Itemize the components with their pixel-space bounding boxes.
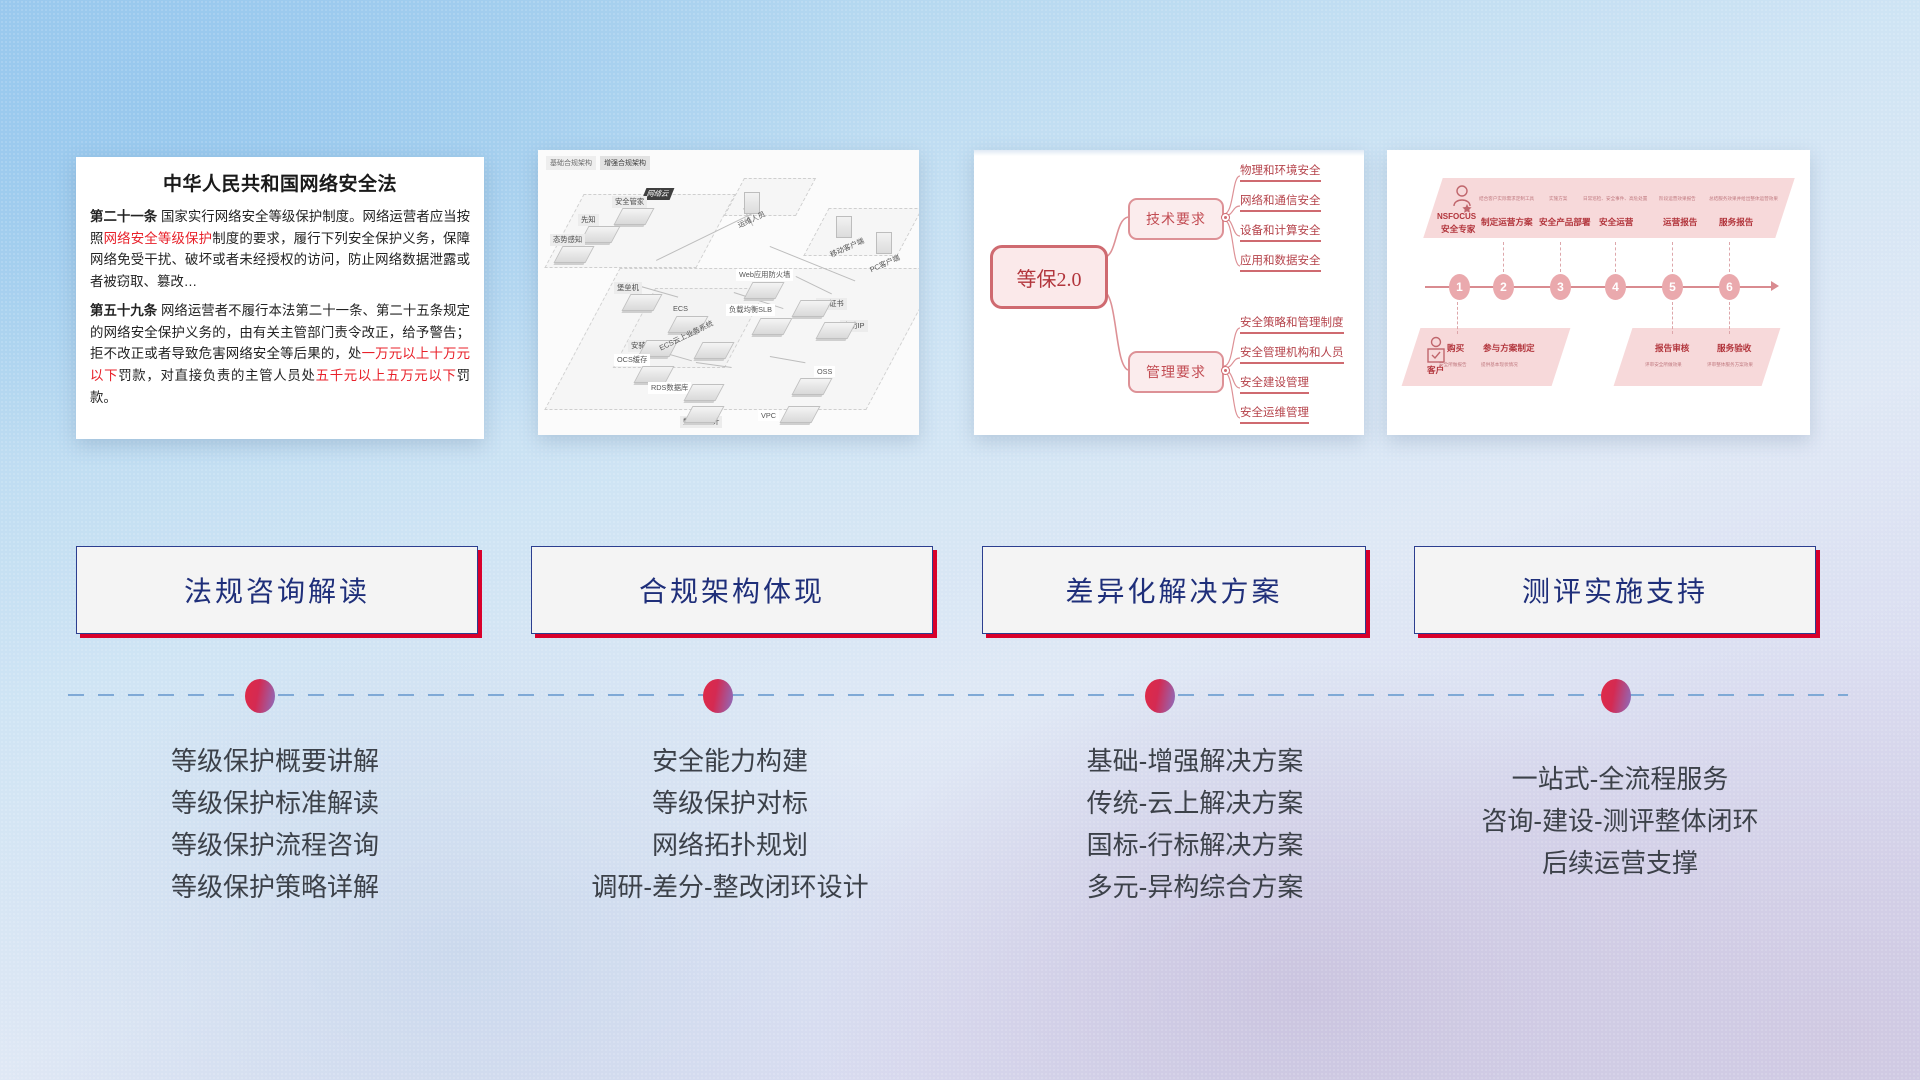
law-text-highlight: 网络安全等级保护 (104, 231, 213, 246)
architecture-tabs: 基础合规架构 增强合规架构 (546, 156, 650, 170)
node-situational-awareness: 态势感知 (558, 246, 590, 263)
customer-step-desc: 评审整体服务方案效果 (1707, 362, 1753, 368)
rail-dot-4 (1601, 679, 1631, 713)
pillar-title-assessment-support[interactable]: 测评实施支持 (1414, 546, 1816, 634)
law-paragraph: 第五十九条 网络运营者不履行本法第二十一条、第二十五条规定的网络安全保护义务的，… (90, 300, 470, 409)
timeline-step: 1 (1449, 274, 1470, 300)
expert-role-label-cn: 安全专家 (1441, 223, 1475, 235)
pillar-item: 等级保护概要讲解 (80, 740, 470, 782)
pillar-item: 国标-行标解决方案 (1000, 824, 1390, 866)
law-text-highlight: 五千元以上五万元以下 (316, 368, 457, 383)
expert-step-desc: 阶段运营效果报告 (1659, 196, 1696, 202)
pillar-item: 网络拓扑规划 (530, 824, 930, 866)
node-mobile-client-icon (836, 216, 852, 238)
timeline-rail (68, 694, 1848, 696)
node-rds-database: RDS数据库 (688, 384, 720, 401)
node-ecs-business-system: ECS云上业务系统 (698, 342, 730, 359)
pillar-title-regulation-consulting[interactable]: 法规咨询解读 (76, 546, 478, 634)
mindmap-leaf: 网络和通信安全 (1240, 192, 1321, 212)
customer-step-desc: 安全所做报告 (1439, 362, 1467, 368)
mindmap-leaf: 应用和数据安全 (1240, 252, 1321, 272)
pillar-item: 多元-异构综合方案 (1000, 866, 1390, 908)
rail-dot-3 (1145, 679, 1175, 713)
law-paragraph: 第二十一条 国家实行网络安全等级保护制度。网络运营者应当按照网络安全等级保护制度… (90, 206, 470, 293)
pillar-item: 咨询-建设-测评整体闭环 (1420, 800, 1820, 842)
node-bastion-host: 堡垒机 (626, 294, 658, 311)
customer-step-desc: 提供基本现状情况 (1481, 362, 1518, 368)
timeline-tick (1503, 242, 1505, 272)
law-article-number: 第五十九条 (90, 303, 157, 318)
customer-step-title: 服务验收 (1717, 342, 1751, 354)
timeline-step: 6 (1719, 274, 1740, 300)
timeline-tick (1729, 302, 1731, 334)
mindmap-collapse-icon (1221, 213, 1230, 222)
node-vpc: VPC (784, 406, 816, 423)
pillar-item: 等级保护策略详解 (80, 866, 470, 908)
expert-step-title: 运营报告 (1663, 216, 1697, 228)
mindmap-leaf: 设备和计算安全 (1240, 222, 1321, 242)
mindmap-collapse-icon (1221, 366, 1230, 375)
expert-step-desc: 日常巡检、安全事件、高危处置 (1583, 196, 1647, 202)
mindmap-leaf: 物理和环境安全 (1240, 162, 1321, 182)
mindmap-leaf: 安全管理机构和人员 (1240, 344, 1344, 364)
timeline-tick (1672, 242, 1674, 272)
expert-step-title: 服务报告 (1719, 216, 1753, 228)
pillar-item: 等级保护流程咨询 (80, 824, 470, 866)
customer-step-title: 参与方案制定 (1483, 342, 1535, 354)
timeline-step: 3 (1550, 274, 1571, 300)
rail-dot-1 (245, 679, 275, 713)
architecture-diagram: 基础合规架构 增强合规架构 网络云 安全管家 (538, 150, 919, 435)
mindmap-root: 等保2.0 (990, 245, 1108, 309)
pillar-item: 等级保护对标 (530, 782, 930, 824)
pillar-item: 传统-云上解决方案 (1000, 782, 1390, 824)
node-web-application-firewall: Web应用防火墙 (748, 282, 780, 299)
node-oss: OSS (796, 378, 828, 395)
card-nsfocus-service-timeline: NSFOCUS 安全专家 客户 1 2 3 4 5 6 结合 (1387, 150, 1810, 435)
pillar-items-row: 等级保护概要讲解 等级保护标准解读 等级保护流程咨询 等级保护策略详解 安全能力… (0, 740, 1920, 960)
node-security-butler: 安全管家 (618, 208, 650, 225)
customer-band-right (1614, 328, 1781, 386)
law-article-number: 第二十一条 (90, 209, 157, 224)
mindmap-branch-technical: 技术要求 (1128, 198, 1224, 240)
expert-step-title: 安全运营 (1599, 216, 1633, 228)
timeline-tick (1560, 242, 1562, 272)
node-ocs-cache: OCS缓存 (638, 366, 670, 383)
timeline-step: 2 (1493, 274, 1514, 300)
service-timeline: NSFOCUS 安全专家 客户 1 2 3 4 5 6 结合 (1387, 150, 1810, 435)
plane-ops (724, 178, 816, 216)
pillar-item: 调研-差分-整改闭环设计 (530, 866, 930, 908)
customer-step-desc: 评审安全所做效果 (1645, 362, 1682, 368)
tab-enhanced-architecture: 增强合规架构 (600, 156, 650, 170)
card-dengbao-mindmap: 等保2.0 技术要求 物理和环境安全 网络和通信安全 设备和计算安全 应用和数据… (974, 150, 1364, 435)
node-anti-ddos-ip: 高防IP (820, 322, 852, 339)
timeline-arrow-icon (1771, 281, 1779, 291)
card-cybersecurity-law: 中华人民共和国网络安全法 第二十一条 国家实行网络安全等级保护制度。网络运营者应… (76, 157, 484, 439)
pillar-item: 基础-增强解决方案 (1000, 740, 1390, 782)
tab-basic-architecture: 基础合规架构 (546, 156, 596, 170)
expert-step-desc: 实施方案 (1549, 196, 1567, 202)
expert-step-title: 制定运营方案 (1481, 216, 1533, 228)
pillar-title-label: 法规咨询解读 (184, 570, 370, 610)
node-pc-client-icon (876, 232, 892, 254)
mindmap-leaf: 安全建设管理 (1240, 374, 1309, 394)
pillar-item: 等级保护标准解读 (80, 782, 470, 824)
timeline-tick (1672, 302, 1674, 334)
pillar-item: 安全能力构建 (530, 740, 930, 782)
mindmap-leaf: 安全运维管理 (1240, 404, 1309, 424)
pillar-title-compliance-architecture[interactable]: 合规架构体现 (531, 546, 933, 634)
reference-cards-row: 中华人民共和国网络安全法 第二十一条 国家实行网络安全等级保护制度。网络运营者应… (0, 150, 1920, 446)
expert-step-desc: 结合客户实际需求定制工具 (1479, 196, 1534, 202)
rail-dot-2 (703, 679, 733, 713)
customer-step-title: 购买 (1447, 342, 1464, 354)
pillar-items-differentiated-solution: 基础-增强解决方案 传统-云上解决方案 国标-行标解决方案 多元-异构综合方案 (1000, 740, 1390, 908)
mindmap-branch-management: 管理要求 (1128, 351, 1224, 393)
card-cloud-architecture: 基础合规架构 增强合规架构 网络云 安全管家 (538, 150, 919, 435)
timeline-step: 4 (1605, 274, 1626, 300)
pillar-items-assessment-support: 一站式-全流程服务 咨询-建设-测评整体闭环 后续运营支撑 (1420, 758, 1820, 884)
expert-step-desc: 总结服务效果并给出整体运营效果 (1709, 196, 1778, 202)
pillar-title-differentiated-solution[interactable]: 差异化解决方案 (982, 546, 1366, 634)
timeline-tick (1615, 242, 1617, 272)
pillar-title-label: 合规架构体现 (639, 570, 825, 610)
law-text: 罚款，对直接负责的主管人员处 (118, 368, 315, 383)
timeline-step: 5 (1662, 274, 1683, 300)
law-body: 第二十一条 国家实行网络安全等级保护制度。网络运营者应当按照网络安全等级保护制度… (76, 206, 484, 421)
timeline-tick (1457, 302, 1459, 334)
pillar-title-label: 差异化解决方案 (1065, 570, 1282, 610)
law-title: 中华人民共和国网络安全法 (76, 169, 484, 196)
mindmap-leaf: 安全策略和管理制度 (1240, 314, 1344, 334)
expert-role-label: NSFOCUS (1437, 212, 1476, 221)
node-xianzhi: 先知 (584, 226, 616, 243)
customer-step-title: 报告审核 (1655, 342, 1689, 354)
pillar-title-label: 测评实施支持 (1522, 570, 1708, 610)
node-load-balancer-slb: 负载均衡SLB (756, 318, 788, 335)
pillar-titles-row: 法规咨询解读 合规架构体现 差异化解决方案 测评实施支持 (0, 546, 1920, 646)
node-ca-certificate: CA证书 (796, 300, 828, 317)
plane-clients (803, 208, 919, 256)
timeline-tick (1729, 242, 1731, 272)
expert-step-title: 安全产品部署 (1539, 216, 1591, 228)
pillar-item: 后续运营支撑 (1420, 842, 1820, 884)
pillar-items-compliance-architecture: 安全能力构建 等级保护对标 网络拓扑规划 调研-差分-整改闭环设计 (530, 740, 930, 908)
pillar-item: 一站式-全流程服务 (1420, 758, 1820, 800)
mindmap: 等保2.0 技术要求 物理和环境安全 网络和通信安全 设备和计算安全 应用和数据… (974, 150, 1364, 435)
pillar-items-regulation-consulting: 等级保护概要讲解 等级保护标准解读 等级保护流程咨询 等级保护策略详解 (80, 740, 470, 908)
node-database-audit: 数据库审计 (688, 406, 720, 423)
